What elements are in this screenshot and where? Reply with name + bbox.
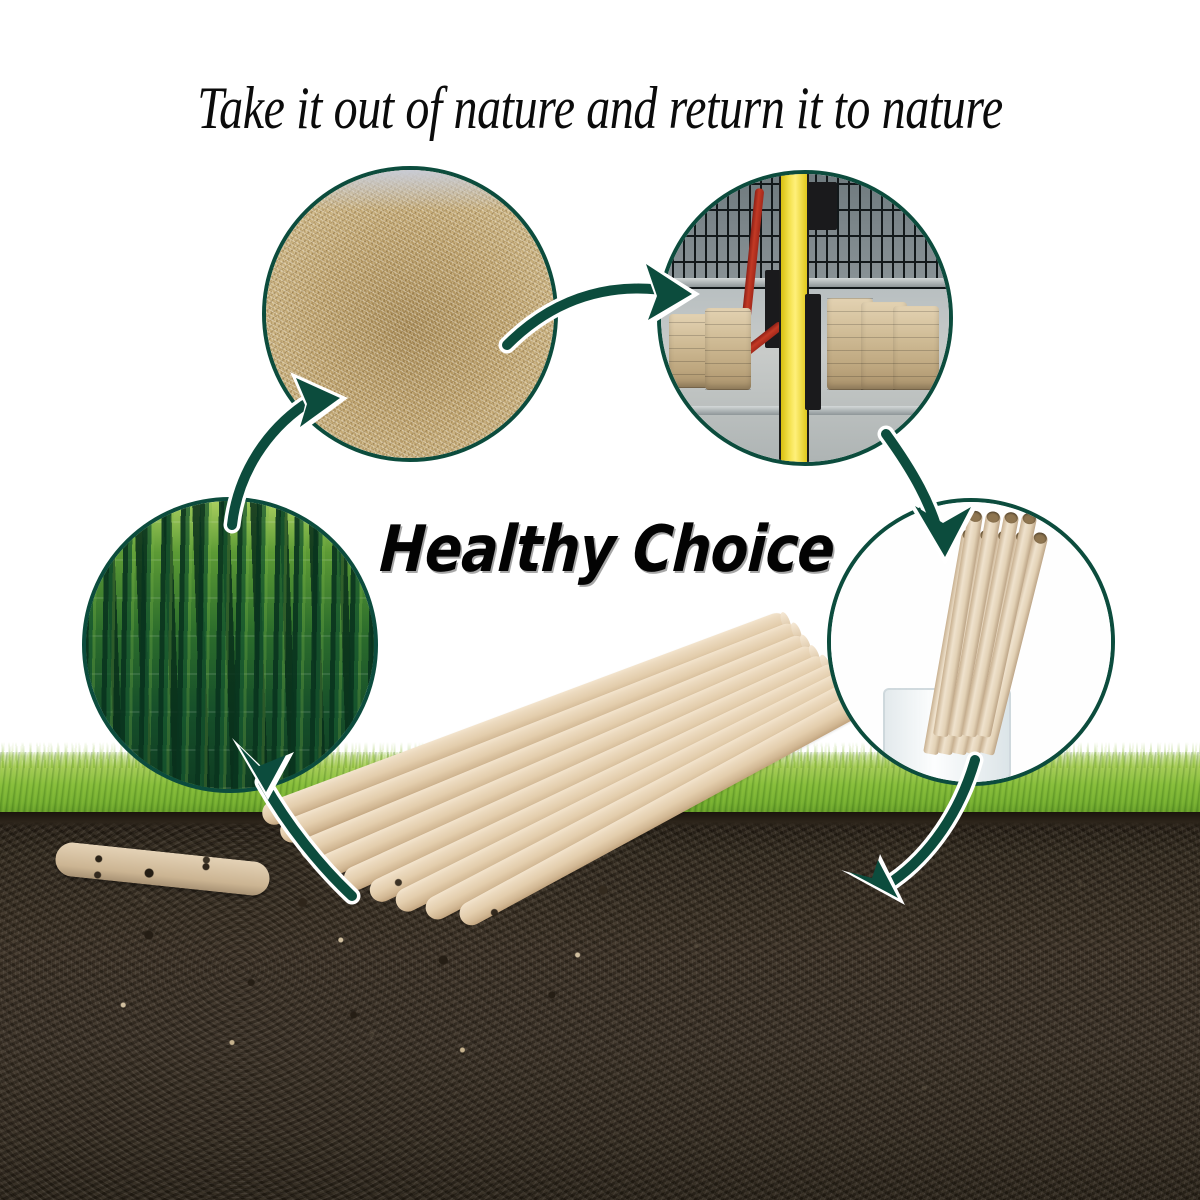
poster-canvas: .aout{fill:none;stroke:#ffffff;stroke-wi… <box>0 0 1200 1200</box>
circle-bamboo-fiber <box>262 166 558 462</box>
circle-bamboo-forest <box>82 497 378 793</box>
page-title: Take it out of nature and return it to n… <box>120 78 1080 138</box>
circle-factory-production <box>657 170 953 466</box>
circle-finished-straws <box>827 498 1115 786</box>
brand-wordmark: Healthy Choice <box>378 518 777 582</box>
